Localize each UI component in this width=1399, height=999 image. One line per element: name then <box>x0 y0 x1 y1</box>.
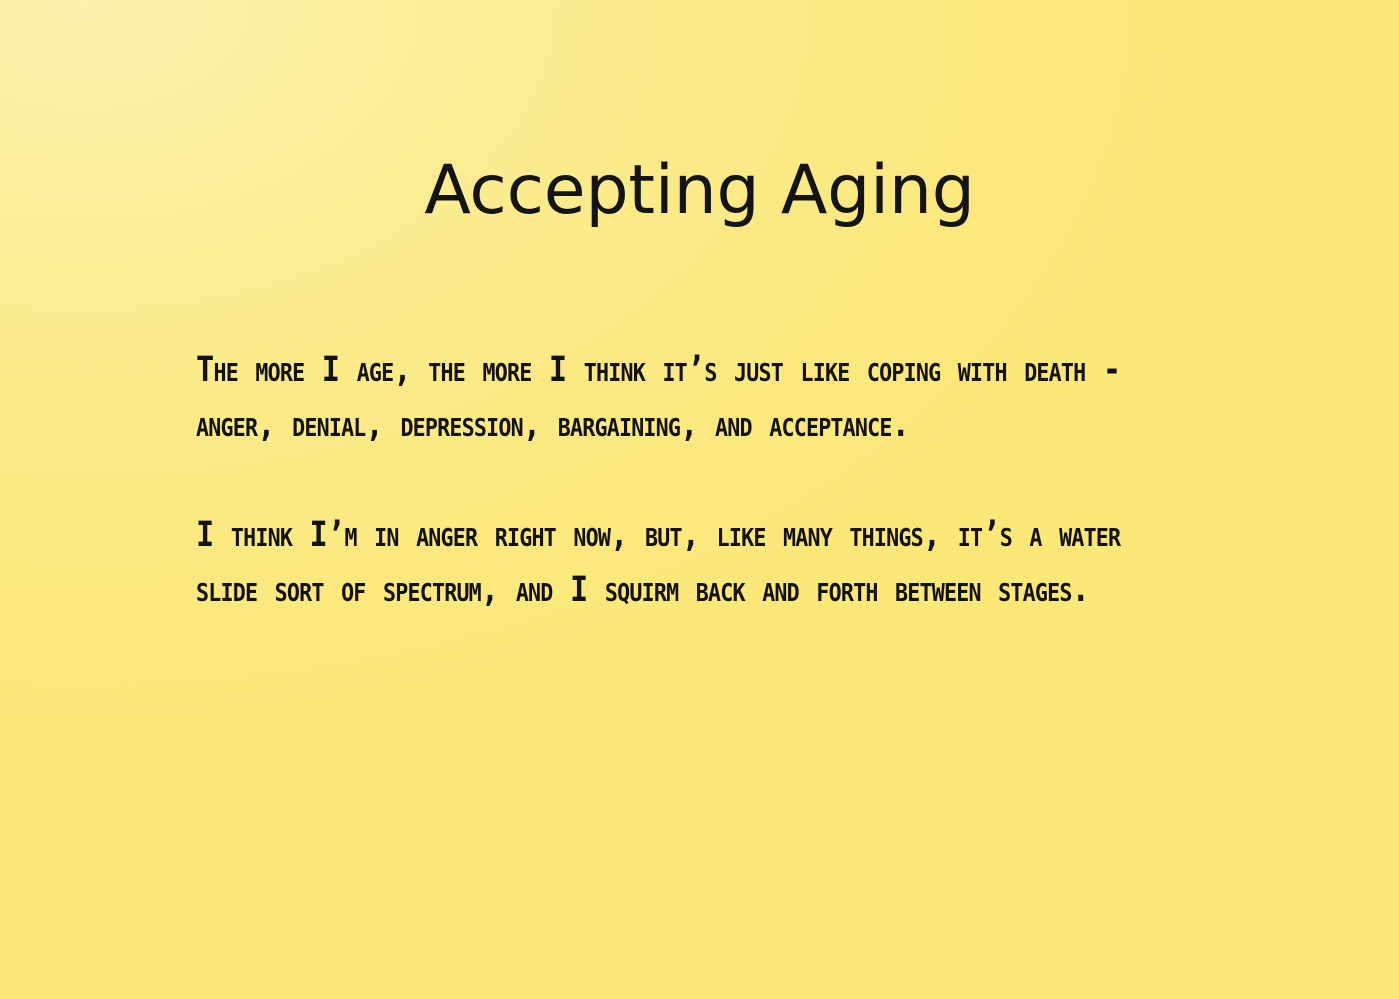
slide-canvas: Accepting Aging The more I age, the more… <box>0 0 1399 999</box>
paragraph-2: I think I’m in anger right now, but, lik… <box>196 508 1156 618</box>
body-copy: The more I age, the more I think it’s ju… <box>196 343 1156 618</box>
page-title: Accepting Aging <box>0 155 1399 226</box>
paragraph-1: The more I age, the more I think it’s ju… <box>196 343 1156 453</box>
